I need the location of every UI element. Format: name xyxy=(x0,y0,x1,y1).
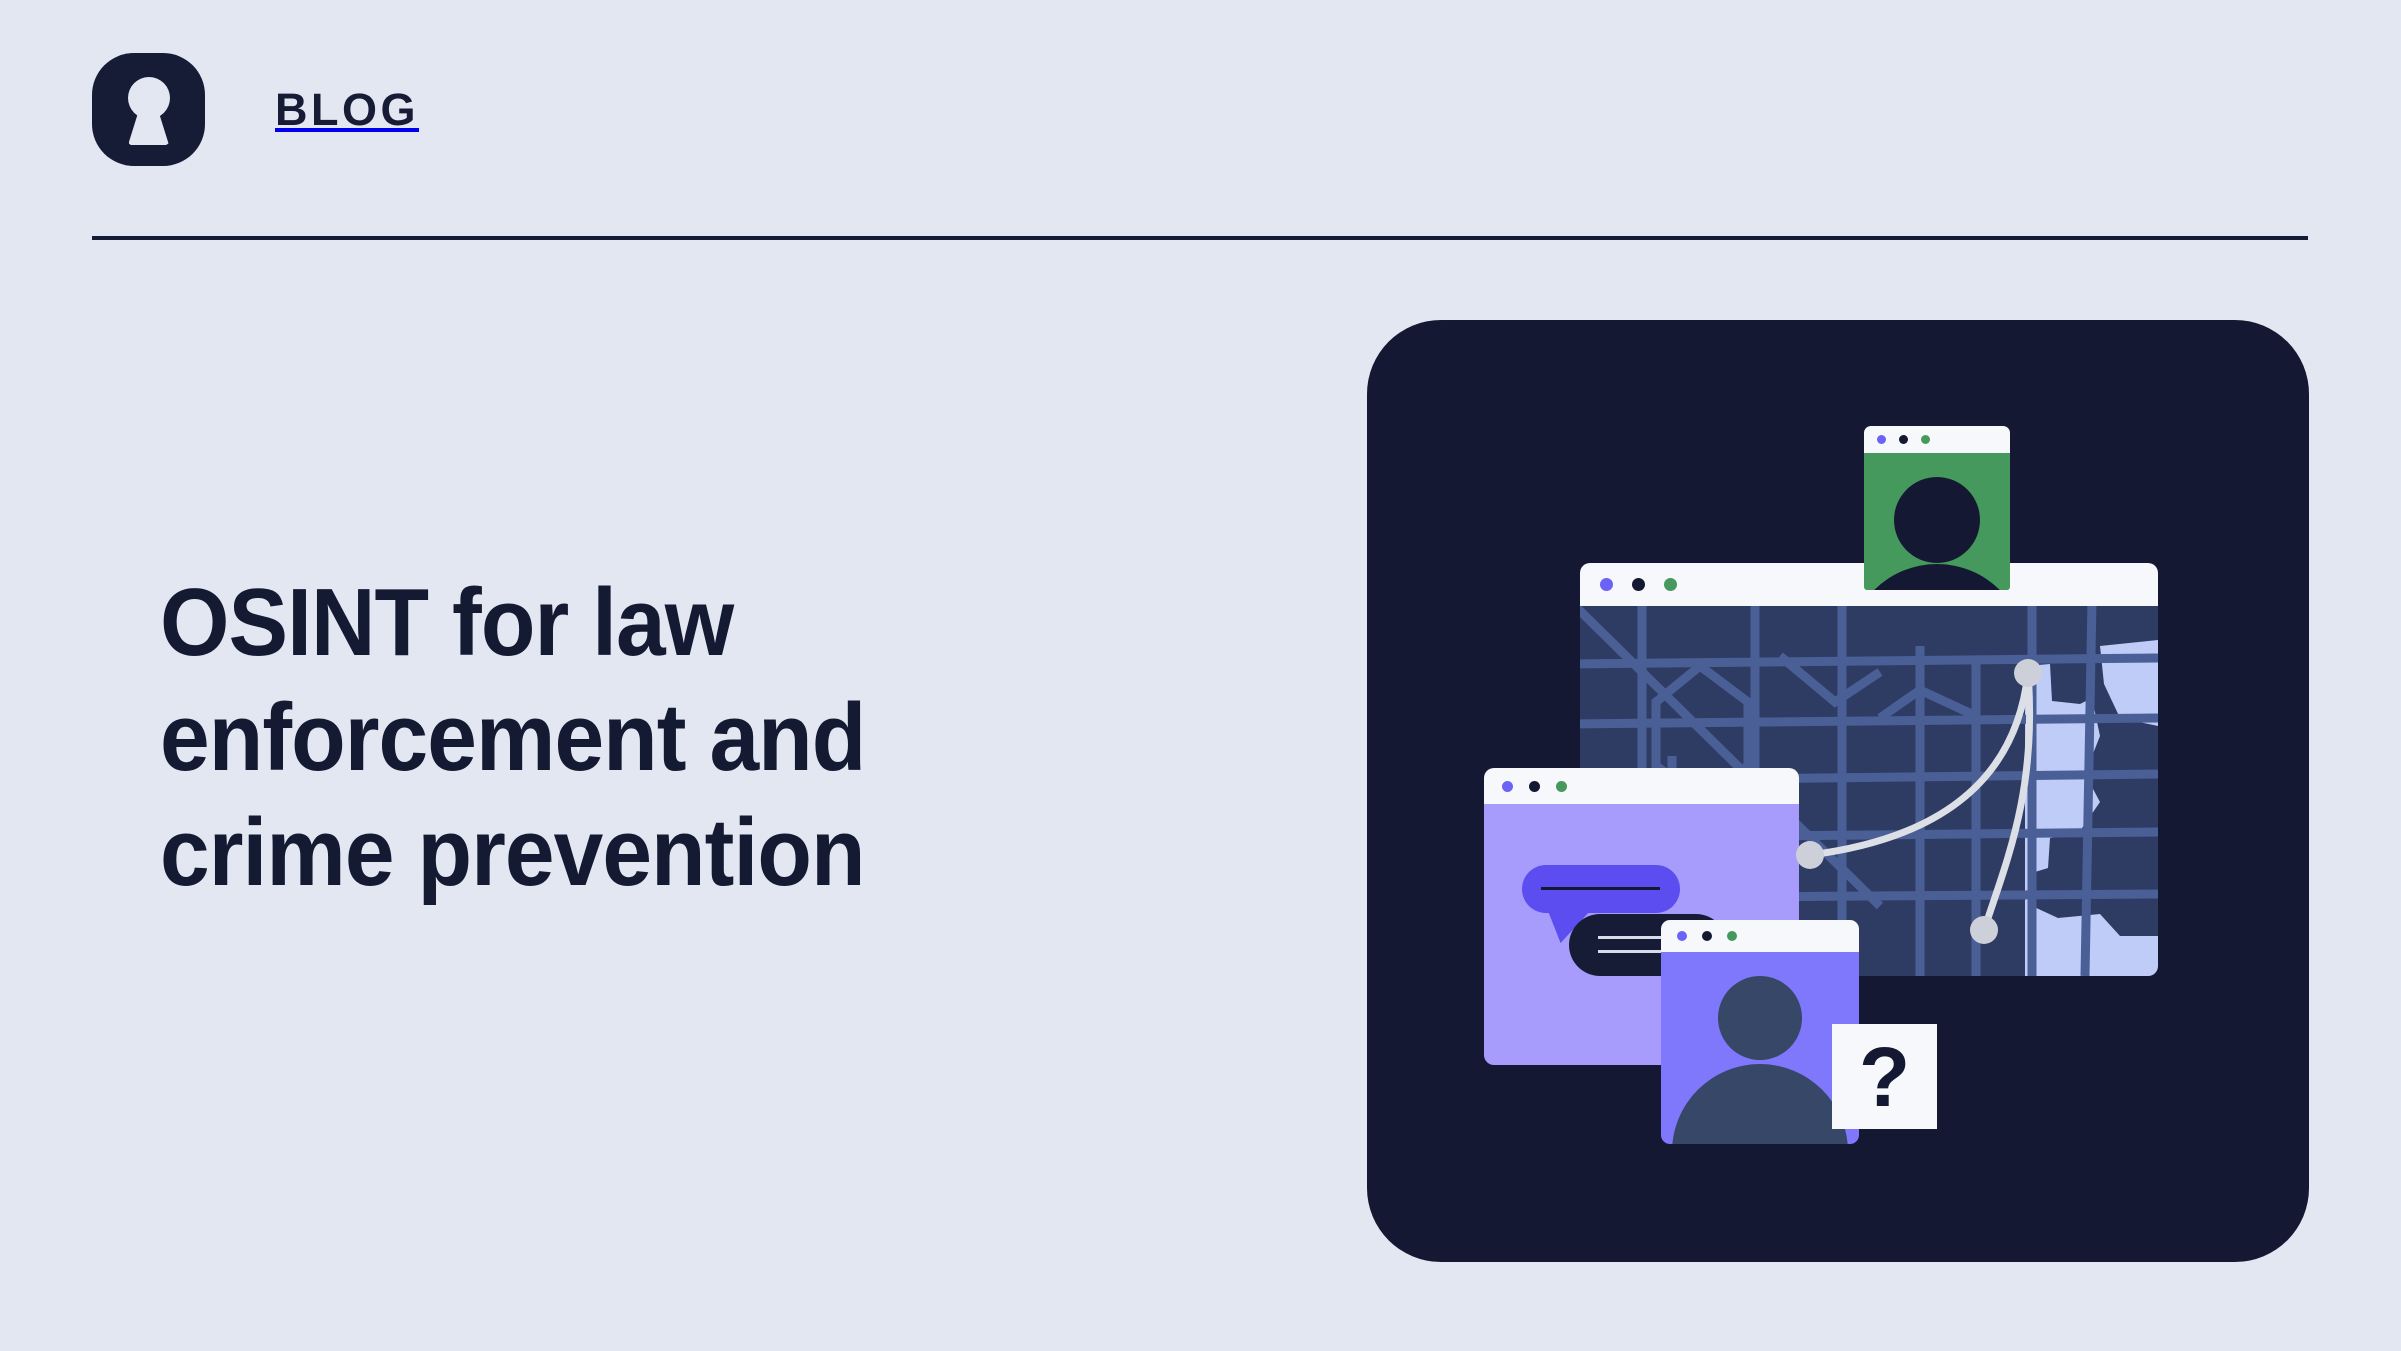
person-silhouette-icon xyxy=(1718,976,1802,1060)
profile-window-titlebar xyxy=(1661,920,1859,952)
unknown-profile-window xyxy=(1661,920,1859,1144)
node-left[interactable] xyxy=(1796,841,1824,869)
green-profile-window xyxy=(1864,426,2010,590)
brand-label: BLOG xyxy=(275,87,419,132)
person-silhouette-body xyxy=(1672,1064,1848,1144)
outgoing-bubble[interactable] xyxy=(1522,865,1680,913)
keyhole-icon xyxy=(92,53,205,166)
window-dot-dark[interactable] xyxy=(1632,578,1645,591)
green-window-titlebar xyxy=(1864,426,2010,453)
window-dot-dark[interactable] xyxy=(1702,931,1712,941)
window-dot-green[interactable] xyxy=(1664,578,1677,591)
window-dot-green[interactable] xyxy=(1727,931,1737,941)
window-dot-green[interactable] xyxy=(1921,435,1930,444)
window-dot-purple[interactable] xyxy=(1502,781,1513,792)
window-dot-green[interactable] xyxy=(1556,781,1567,792)
window-dot-dark[interactable] xyxy=(1899,435,1908,444)
bubble-text-line xyxy=(1541,887,1660,890)
osint-investigation-illustration: ? xyxy=(1367,320,2309,1262)
window-dot-dark[interactable] xyxy=(1529,781,1540,792)
brand-link[interactable]: BLOG xyxy=(92,53,419,166)
node-bottom[interactable] xyxy=(1970,916,1998,944)
window-dot-purple[interactable] xyxy=(1877,435,1886,444)
site-header: BLOG xyxy=(92,40,2308,240)
person-silhouette-icon xyxy=(1894,477,1980,563)
profile-panel[interactable] xyxy=(1661,952,1859,1144)
question-mark-glyph: ? xyxy=(1859,1035,1910,1119)
question-mark-card: ? xyxy=(1832,1024,1937,1129)
chat-window-titlebar xyxy=(1484,768,1799,804)
window-dot-purple[interactable] xyxy=(1600,578,1613,591)
page-root: BLOG OSINT for law enforcement and crime… xyxy=(0,0,2401,1351)
page-title: OSINT for law enforcement and crime prev… xyxy=(160,565,1071,911)
header-divider xyxy=(92,236,2308,240)
person-silhouette-body xyxy=(1864,564,2010,590)
node-top[interactable] xyxy=(2014,659,2042,687)
green-profile-panel[interactable] xyxy=(1864,453,2010,590)
window-dot-purple[interactable] xyxy=(1677,931,1687,941)
